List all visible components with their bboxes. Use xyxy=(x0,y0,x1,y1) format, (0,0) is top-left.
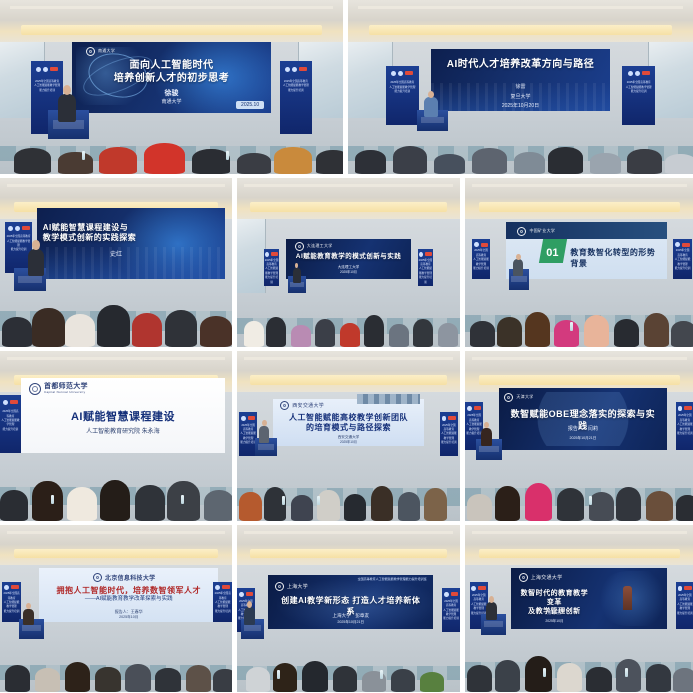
rollup-banner-right: 2025年全国高等教育 人工智能赋能教学管理 能力提升培训 xyxy=(418,249,434,286)
slide-date: 2025年10月 xyxy=(282,440,415,444)
audience-head xyxy=(525,312,550,347)
audience-head xyxy=(514,152,545,174)
projection-screen: 天津大学 数智赋能OBE理念落实的探索与实践 报告人：闫莉 2025年10月21… xyxy=(499,388,666,449)
banner-text: 2025年全国高等教育 人工智能赋能教学管理 能力提升培训 xyxy=(282,80,311,93)
water-bottle xyxy=(570,322,573,331)
logo-mark-icon xyxy=(682,243,690,247)
audience-head xyxy=(413,319,433,347)
logo-dot-icon xyxy=(391,71,396,76)
banner-text: 2025年全国高等教育 人工智能赋能教学管理 能力提升培训 xyxy=(624,81,653,94)
lecture-room: 北京信息科技大学 拥抱人工智能时代，培养数智领军人才 ——AI赋能教育教学改革探… xyxy=(0,525,232,692)
rollup-banner-left: 2025年全国高等教育 人工智能赋能教学管理 能力提升培训 xyxy=(2,582,21,622)
logo-dot-icon xyxy=(467,406,472,411)
ceiling xyxy=(237,178,460,222)
audience-head xyxy=(495,660,520,692)
audience-head xyxy=(472,148,507,174)
banner-text: 2025年全国高等教育 人工智能赋能教学管理 能力提升培训 xyxy=(419,259,433,285)
audience-head xyxy=(165,310,197,347)
banner-logos xyxy=(442,416,456,421)
university-name: 上海交通大学 xyxy=(531,574,563,581)
logo-dot-icon xyxy=(678,406,683,411)
audience-head xyxy=(316,150,343,174)
logo-dot-icon xyxy=(4,585,9,590)
ceiling-light-strip xyxy=(244,357,454,360)
audience-head xyxy=(557,488,584,521)
slide-speaker: 报告人：王春华 xyxy=(50,609,207,614)
window-left xyxy=(237,219,266,293)
audience-head xyxy=(470,321,495,347)
logo-dot-icon xyxy=(285,67,290,72)
slide-date-badge: 2025.10 xyxy=(236,101,264,109)
logo-mark-icon xyxy=(299,67,307,71)
screen-decor-strip xyxy=(357,394,419,404)
slide-date: 2025年10月21日 xyxy=(509,436,656,441)
logo-mark-icon xyxy=(451,592,459,596)
banner-logos xyxy=(678,406,693,411)
slide-title: 教育数智化转型的形势背景 xyxy=(570,248,660,268)
audience-head xyxy=(186,665,212,692)
audience-head xyxy=(132,313,162,347)
slide-speaker: 人工智能教育研究院 朱永海 xyxy=(33,429,213,437)
banner-text: 2025年全国高等教育 人工智能赋能教学管理 能力提升培训 xyxy=(1,410,19,432)
logo-mark-icon xyxy=(271,252,277,256)
lecture-room: 上海交通大学 数智时代的教育教学变革 及教学管理创新 邢永杰 2025年10月 … xyxy=(465,525,693,692)
water-bottle xyxy=(625,668,628,677)
speaker-person xyxy=(244,607,255,625)
speaker-person xyxy=(424,97,438,116)
logo-dot-icon xyxy=(215,585,220,590)
banner-text: 2025年全国高等教育 人工智能赋能教学管理 能力提升培训 xyxy=(473,249,489,271)
rollup-banner-right: 2025年全国高等教育 人工智能赋能教学管理 能力提升培训 xyxy=(673,239,691,280)
audience-head xyxy=(97,305,129,347)
rollup-banner-right: 2025年全国高等教育 人工智能赋能教学管理 能力提升培训 xyxy=(442,588,460,631)
university-logo: 首都师范大学 Capital Normal University xyxy=(29,383,88,395)
slide-title: 面向人工智能时代 培养创新人才的初步思考 xyxy=(84,60,259,86)
photo-cell-1[interactable]: 南通大学 面向人工智能时代 培养创新人才的初步思考 徐骏 南通大学 2025.1… xyxy=(0,0,343,174)
banner-text: 2025年全国高等教育 人工智能赋能教学管理 能力提升培训 xyxy=(240,424,256,446)
ceiling-light-strip xyxy=(472,184,687,187)
banner-logos xyxy=(444,592,458,597)
collage-row-1: 南通大学 面向人工智能时代 培养创新人才的初步思考 徐骏 南通大学 2025.1… xyxy=(0,0,693,174)
logo-dot-icon xyxy=(36,67,41,72)
audience-head xyxy=(646,664,671,692)
banner-text: 2025年全国高等教育 人工智能赋能教学管理 能力提升培训 xyxy=(677,414,693,436)
lecture-room: 中国矿业大学 01 教育数智化转型的形势背景 2025年全国高等教育 人工智能赋… xyxy=(465,178,693,347)
logo-dot-icon xyxy=(265,252,269,257)
university-logo: 上海大学 xyxy=(275,582,308,591)
banner-text: 2025年全国高等教育 人工智能赋能教学管理 能力提升培训 xyxy=(441,424,457,446)
photo-cell-7[interactable]: 西安交通大学 人工智能赋能高校教学创新团队 的培育模式与路径探索 西安交通大学 … xyxy=(237,351,460,521)
banner-text: 2025年全国高等教育 人工智能赋能教学管理 能力提升培训 xyxy=(675,249,691,271)
audience-head xyxy=(673,668,693,692)
banner-logos xyxy=(471,586,486,591)
banner-text: 2025年全国高等教育 人工智能赋能教学管理 能力提升培训 xyxy=(215,592,231,614)
slide-speaker: 徐骏 xyxy=(84,89,259,98)
logo-mark-icon xyxy=(425,252,431,256)
slide-speaker: 上海大学 彭章友 xyxy=(278,613,423,619)
audience xyxy=(0,273,232,347)
ceiling-light-strip xyxy=(7,184,225,187)
photo-cell-5[interactable]: 中国矿业大学 01 教育数智化转型的形势背景 2025年全国高等教育 人工智能赋… xyxy=(465,178,693,347)
logo-mark-icon xyxy=(684,586,692,590)
slide-title: AI赋能智慧课程建设 xyxy=(33,410,213,424)
ceiling-light-strip xyxy=(472,531,687,534)
audience-head xyxy=(246,667,271,692)
ceiling-light-strip xyxy=(7,531,225,534)
audience xyxy=(237,286,460,347)
landmark-tower-graphic xyxy=(623,586,632,610)
university-name-en: Capital Normal University xyxy=(44,391,88,394)
water-bottle xyxy=(82,151,85,160)
audience-head xyxy=(315,319,335,347)
ceiling-light-strip xyxy=(244,184,454,187)
audience xyxy=(348,115,693,174)
logo-mark-icon xyxy=(22,226,30,230)
rollup-banner-left: 2025年全国高等教育 人工智能赋能教学管理 能力提升培训 xyxy=(264,249,280,286)
university-name: 北京信息科技大学 xyxy=(105,573,155,582)
audience-head xyxy=(554,320,579,347)
banner-text: 2025年全国高等教育 人工智能赋能教学管理 能力提升培训 xyxy=(388,81,417,94)
water-bottle xyxy=(543,668,546,677)
audience xyxy=(465,629,693,692)
audience-head xyxy=(135,485,165,521)
audience-head xyxy=(32,308,64,347)
audience-head xyxy=(340,323,360,347)
slide-speaker: 徐雷 xyxy=(442,84,600,91)
audience-head xyxy=(2,317,32,347)
water-bottle xyxy=(317,496,320,505)
university-logo: 西安交通大学 xyxy=(280,401,324,410)
logo-dot-icon xyxy=(474,242,479,247)
speaker-person xyxy=(481,428,492,447)
logo-dot-icon xyxy=(15,226,20,231)
audience-head xyxy=(67,487,97,521)
audience-head xyxy=(586,667,611,692)
banner-logos xyxy=(7,226,29,231)
ceiling xyxy=(348,0,693,45)
banner-logos xyxy=(241,416,255,421)
slide-speaker: 史红 xyxy=(82,252,150,260)
logo-mark-icon xyxy=(474,406,482,410)
slide-subtitle: ——AI赋能教育教学改革探索与实践 xyxy=(50,596,207,603)
projection-screen: 西安交通大学 人工智能赋能高校教学创新团队 的培育模式与路径探索 西安交通大学 … xyxy=(273,399,425,447)
audience-head xyxy=(525,483,552,521)
speaker-person xyxy=(293,268,301,283)
slide-title: AI赋能智慧课程建设与 教学模式创新的实践探索 xyxy=(43,223,154,243)
audience-head xyxy=(274,147,312,174)
slide-date: 2025年10月 xyxy=(517,619,592,623)
slide-affiliation: 复旦大学 xyxy=(442,94,600,101)
speaker-person xyxy=(513,259,523,276)
lecture-room: 西安交通大学 人工智能赋能高校教学创新团队 的培育模式与路径探索 西安交通大学 … xyxy=(237,351,460,521)
audience-head xyxy=(65,662,91,692)
audience-head xyxy=(355,150,386,174)
seal-icon xyxy=(29,383,41,395)
rollup-banner-right: 2025年全国高等教育 人工智能赋能教学管理 能力提升培训 xyxy=(213,582,232,622)
seal-icon xyxy=(295,242,304,251)
seal-icon xyxy=(93,573,102,582)
audience-head xyxy=(237,153,271,174)
ceiling-light-strip xyxy=(7,357,225,360)
water-bottle xyxy=(589,496,592,505)
banner-logos xyxy=(389,71,415,76)
projection-screen: AI赋能智慧课程建设与 教学模式创新的实践探索 史红 xyxy=(37,208,225,279)
banner-logos xyxy=(215,585,230,590)
slide-speaker: 邢永杰 xyxy=(517,610,592,616)
logo-dot-icon xyxy=(471,586,476,591)
audience-head xyxy=(291,495,313,521)
projection-screen: 北京信息科技大学 拥抱人工智能时代，培养数智领军人才 ——AI赋能教育教学改革探… xyxy=(39,568,218,621)
university-name: 西安交通大学 xyxy=(292,402,324,409)
photo-cell-4[interactable]: 大连理工大学 AI赋能教育教学的模式创新与实践 大连理工大学 2025年10月 … xyxy=(237,178,460,347)
slide-date: 2025年10月20日 xyxy=(442,103,600,110)
audience-head xyxy=(239,492,261,521)
audience-head xyxy=(155,668,181,692)
audience-head xyxy=(244,321,264,347)
banner-logos xyxy=(675,242,690,247)
university-logo: 中国矿业大学 xyxy=(517,227,555,236)
audience-head xyxy=(424,488,446,521)
lecture-room: AI时代人才培养改革方向与路径 徐雷 复旦大学 2025年10月20日 2025… xyxy=(348,0,693,174)
logo-dot-icon xyxy=(678,586,683,591)
audience-head xyxy=(344,494,366,521)
slide-title: 人工智能赋能高校教学创新团队 的培育模式与路径探索 xyxy=(282,413,415,433)
university-name: 南通大学 xyxy=(98,48,115,54)
logo-mark-icon xyxy=(642,71,650,75)
logo-dot-icon xyxy=(635,71,640,76)
banner-logos xyxy=(419,252,432,257)
banner-logos xyxy=(678,586,693,591)
logo-dot-icon xyxy=(444,592,449,597)
audience-head xyxy=(434,154,465,174)
banner-logos xyxy=(4,585,19,590)
audience-head xyxy=(302,661,329,692)
projection-screen: AI时代人才培养改革方向与路径 徐雷 复旦大学 2025年10月20日 xyxy=(431,49,610,112)
collage-row-4: 北京信息科技大学 拥抱人工智能时代，培养数智领军人才 ——AI赋能教育教学改革探… xyxy=(0,525,693,692)
university-logo: 北京信息科技大学 xyxy=(93,573,155,582)
projection-screen: 首都师范大学 Capital Normal University AI赋能智慧课… xyxy=(21,378,225,453)
seal-icon xyxy=(517,227,526,236)
logo-dot-icon xyxy=(8,226,13,231)
audience-head xyxy=(389,324,409,347)
banner-text: 2025年全国高等教育 人工智能赋能教学管理 能力提升培训 xyxy=(6,235,31,253)
collage-row-3: 首都师范大学 Capital Normal University AI赋能智慧课… xyxy=(0,351,693,521)
logo-mark-icon xyxy=(246,592,254,596)
banner-logos xyxy=(474,242,489,247)
logo-mark-icon xyxy=(50,67,58,71)
ceiling xyxy=(465,178,693,222)
slide-title: 拥抱人工智能时代，培养数智领军人才 xyxy=(50,586,207,596)
audience-head xyxy=(266,317,286,347)
logo-mark-icon xyxy=(10,400,18,404)
photo-cell-10[interactable]: 全国高等教育人工智能赋能教学管理能力提升培训班 上海大学 创建AI教学新形态 打… xyxy=(237,525,460,692)
ceiling-light-strip xyxy=(244,531,454,534)
audience-head xyxy=(393,146,428,174)
lecture-room: 全国高等教育人工智能赋能教学管理能力提升培训班 上海大学 创建AI教学新形态 打… xyxy=(237,525,460,692)
slide-date: 2025年10月 xyxy=(294,270,404,274)
university-name: 上海大学 xyxy=(287,583,308,590)
water-bottle xyxy=(226,151,229,160)
banner-logos xyxy=(265,252,278,257)
banner-text: 2025年全国高等教育 人工智能赋能教学管理 能力提升培训 xyxy=(677,594,693,616)
banner-logos xyxy=(239,592,253,597)
audience xyxy=(465,453,693,521)
logo-dot-icon xyxy=(3,400,8,405)
slide-date: 2025年10月21日 xyxy=(278,620,423,625)
audience-head xyxy=(548,147,583,174)
rollup-banner-right: 2025年全国高等教育 人工智能赋能教学管理 能力提升培训 xyxy=(440,412,458,456)
projection-screen: 大连理工大学 AI赋能教育教学的模式创新与实践 大连理工大学 2025年10月 xyxy=(286,239,411,280)
photo-cell-11[interactable]: 上海交通大学 数智时代的教育教学变革 及教学管理创新 邢永杰 2025年10月 … xyxy=(465,525,693,692)
banner-logos xyxy=(34,67,60,72)
audience-head xyxy=(99,147,137,174)
audience-head xyxy=(100,480,130,521)
audience-head xyxy=(676,495,693,521)
audience-head xyxy=(364,315,384,347)
audience-head xyxy=(438,323,458,347)
logo-mark-icon xyxy=(248,416,256,420)
water-bottle xyxy=(181,495,184,504)
university-name: 天津大学 xyxy=(516,394,533,400)
audience-head xyxy=(65,314,95,347)
water-bottle xyxy=(51,495,54,504)
banner-logos xyxy=(2,400,19,405)
logo-mark-icon xyxy=(448,416,456,420)
photo-cell-8[interactable]: 天津大学 数智赋能OBE理念落实的探索与实践 报告人：闫莉 2025年10月21… xyxy=(465,351,693,521)
photo-collage: 南通大学 面向人工智能时代 培养创新人才的初步思考 徐骏 南通大学 2025.1… xyxy=(0,0,693,693)
ceiling xyxy=(237,525,460,568)
banner-text: 2025年全国高等教育 人工智能赋能教学管理 能力提升培训 xyxy=(33,80,62,93)
collage-row-2: AI赋能智慧课程建设与 教学模式创新的实践探索 史红 2025年全国高等教育 人… xyxy=(0,178,693,347)
audience-head xyxy=(616,659,641,692)
water-bottle xyxy=(380,670,383,679)
audience-head xyxy=(627,149,662,174)
audience-head xyxy=(467,494,492,521)
seal-icon xyxy=(275,582,284,591)
audience-head xyxy=(497,317,522,347)
audience-head xyxy=(5,665,31,692)
lecture-room: 首都师范大学 Capital Normal University AI赋能智慧课… xyxy=(0,351,232,521)
logo-mark-icon xyxy=(222,585,230,589)
audience-head xyxy=(291,325,311,347)
audience xyxy=(237,639,460,692)
audience-head xyxy=(614,319,639,347)
slide-affiliation: 大连理工大学 xyxy=(294,265,404,270)
audience-head xyxy=(590,153,621,174)
seal-icon xyxy=(280,401,289,410)
audience-head xyxy=(0,490,28,521)
university-name: 中国矿业大学 xyxy=(529,228,555,234)
audience-head xyxy=(58,152,92,174)
photo-cell-2[interactable]: AI时代人才培养改革方向与路径 徐雷 复旦大学 2025年10月20日 2025… xyxy=(348,0,693,174)
rollup-banner-left: 2025年全国高等教育 人工智能赋能教学管理 能力提升培训 xyxy=(0,395,21,453)
logo-dot-icon xyxy=(43,67,48,72)
water-bottle xyxy=(282,496,285,505)
logo-mark-icon xyxy=(684,406,692,410)
ceiling-light-strip xyxy=(472,357,687,360)
logo-dot-icon xyxy=(241,416,246,421)
audience-head xyxy=(584,315,609,347)
photo-cell-6[interactable]: 首都师范大学 Capital Normal University AI赋能智慧课… xyxy=(0,351,232,521)
audience-head xyxy=(371,486,393,521)
banner-logos xyxy=(626,71,652,76)
speaker-person xyxy=(486,602,497,620)
audience-head xyxy=(204,490,232,521)
university-logo: 天津大学 xyxy=(504,393,533,402)
audience-head xyxy=(144,143,185,174)
ceiling xyxy=(0,525,232,568)
logo-mark-icon xyxy=(11,585,19,589)
ceiling xyxy=(237,351,460,395)
audience xyxy=(0,635,232,692)
audience-head xyxy=(467,665,492,692)
photo-cell-9[interactable]: 北京信息科技大学 拥抱人工智能时代，培养数智领军人才 ——AI赋能教育教学改革探… xyxy=(0,525,232,692)
audience-head xyxy=(665,154,693,174)
audience-head xyxy=(495,486,520,521)
rollup-banner-left: 2025年全国高等教育 人工智能赋能教学管理 能力提升培训 xyxy=(472,239,490,280)
banner-text: 2025年全国高等教育 人工智能赋能教学管理 能力提升培训 xyxy=(3,592,19,614)
logo-mark-icon xyxy=(481,243,489,247)
seal-icon xyxy=(86,47,95,56)
seal-icon xyxy=(504,393,513,402)
ceiling-light-strip xyxy=(358,6,682,9)
banner-logos xyxy=(283,67,309,72)
audience-head xyxy=(317,490,339,521)
audience-head xyxy=(35,668,61,692)
logo-dot-icon xyxy=(398,71,403,76)
logo-dot-icon xyxy=(442,416,447,421)
logo-dot-icon xyxy=(675,242,680,247)
audience-head xyxy=(391,669,416,693)
slide-date: 2025年10月 xyxy=(50,615,207,620)
photo-cell-3[interactable]: AI赋能智慧课程建设与 教学模式创新的实践探索 史红 2025年全国高等教育 人… xyxy=(0,178,232,347)
audience-head xyxy=(192,149,230,174)
logo-dot-icon xyxy=(239,592,244,597)
audience xyxy=(0,450,232,521)
university-logo: 南通大学 xyxy=(86,47,115,56)
slide-affiliation: 西安交通大学 xyxy=(282,435,415,440)
water-bottle xyxy=(277,670,280,679)
seal-icon xyxy=(519,573,528,582)
university-logo: 大连理工大学 xyxy=(295,242,333,251)
banner-logos xyxy=(467,406,482,411)
audience-head xyxy=(125,664,151,692)
university-logo: 上海交通大学 xyxy=(519,573,563,582)
projection-screen: 上海交通大学 数智时代的教育教学变革 及教学管理创新 邢永杰 2025年10月 xyxy=(511,568,667,628)
audience-head xyxy=(95,667,121,692)
audience-head xyxy=(671,321,693,347)
audience-head xyxy=(14,148,52,174)
audience xyxy=(237,453,460,521)
audience-head xyxy=(557,663,582,692)
audience-head xyxy=(646,491,673,521)
banner-text: 2025年全国高等教育 人工智能赋能教学管理 能力提升培训 xyxy=(265,259,279,285)
lecture-room: 南通大学 面向人工智能时代 培养创新人才的初步思考 徐骏 南通大学 2025.1… xyxy=(0,0,343,174)
audience-head xyxy=(200,316,232,347)
slide-affiliation: 南通大学 xyxy=(84,99,259,106)
university-name: 大连理工大学 xyxy=(307,243,333,249)
audience-head xyxy=(213,669,232,692)
lecture-room: AI赋能智慧课程建设与 教学模式创新的实践探索 史红 2025年全国高等教育 人… xyxy=(0,178,232,347)
logo-mark-icon xyxy=(405,71,413,75)
banner-text: 2025年全国高等教育 人工智能赋能教学管理 能力提升培训 xyxy=(443,600,459,622)
audience-head xyxy=(525,656,552,692)
logo-mark-icon xyxy=(478,586,486,590)
audience-head xyxy=(32,481,62,521)
slide-title: AI时代人才培养改革方向与路径 xyxy=(442,59,600,72)
audience-head xyxy=(333,666,358,692)
audience xyxy=(0,115,343,174)
